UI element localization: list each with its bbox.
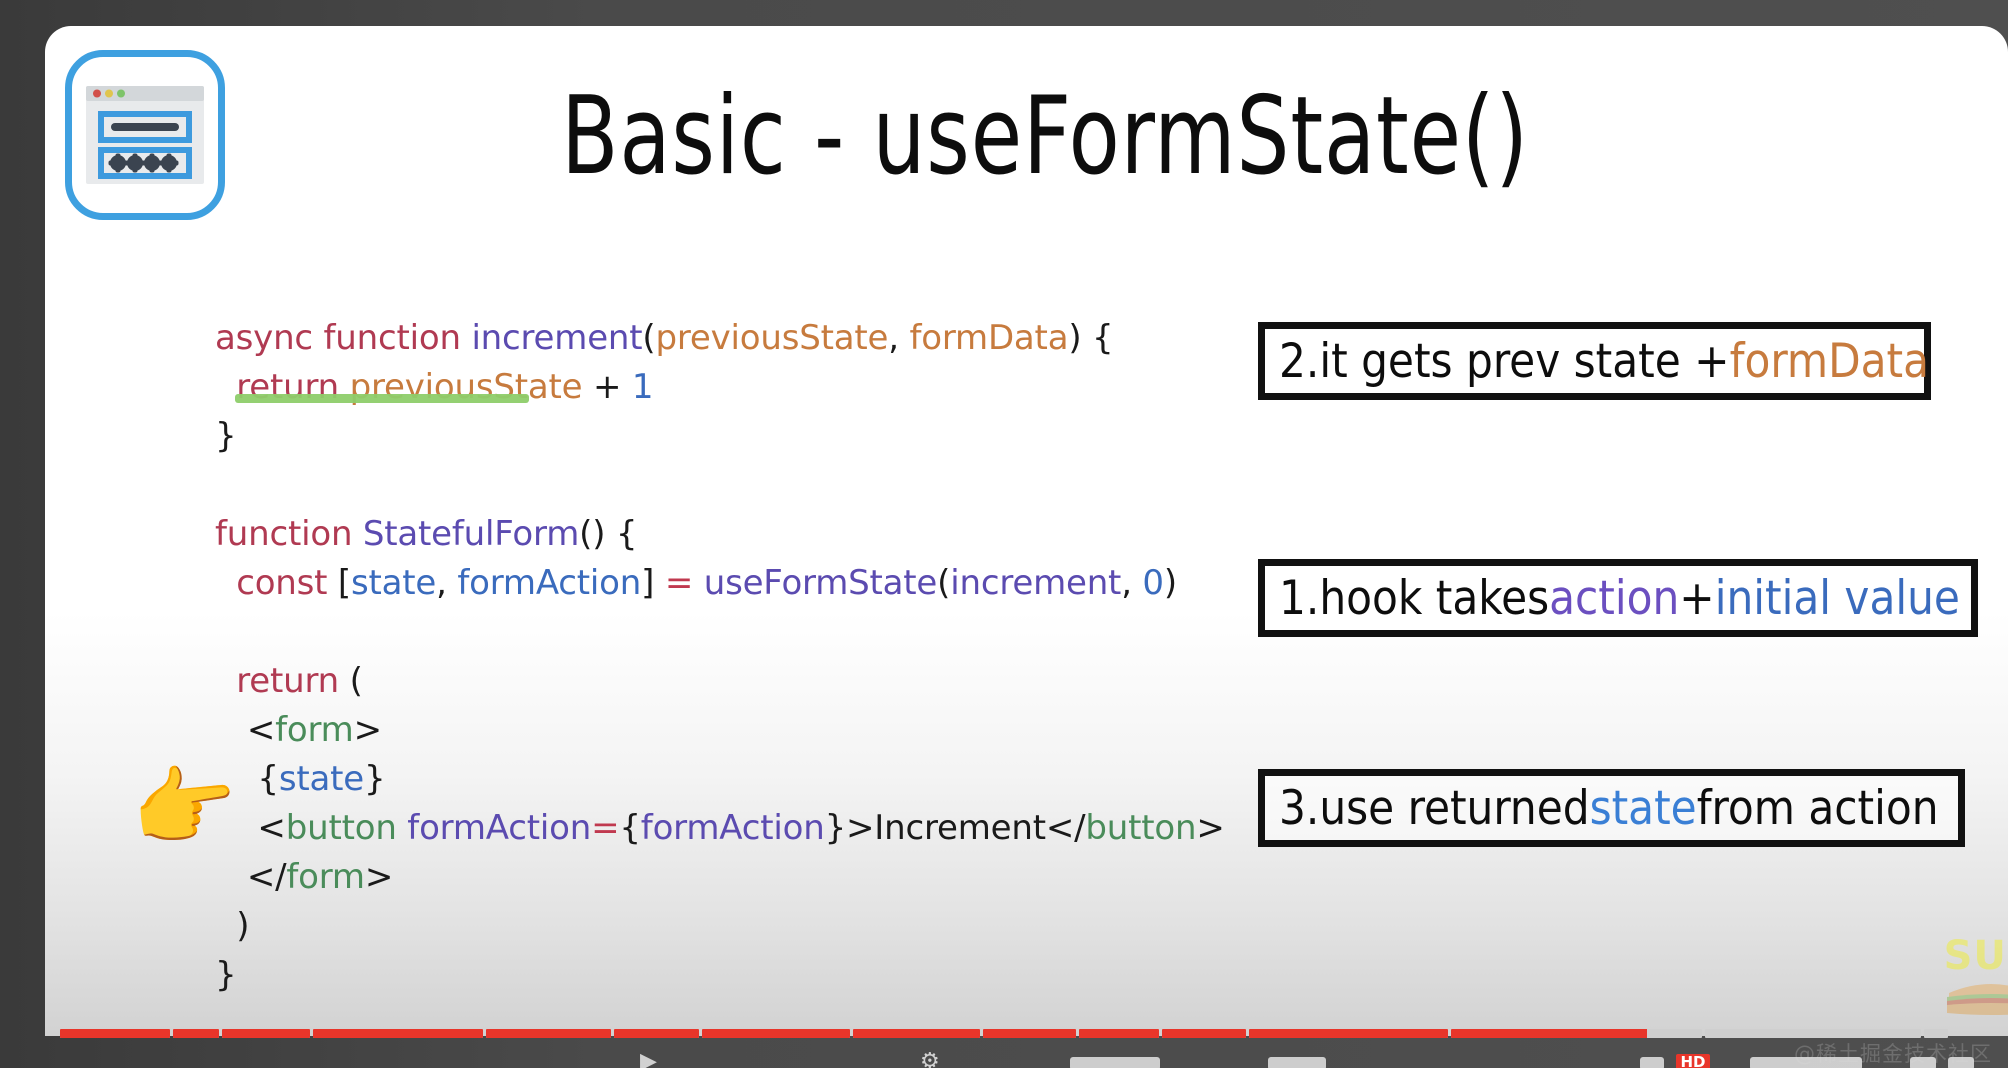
progress-chapter-segment[interactable]	[614, 1029, 699, 1038]
code-token: state	[279, 759, 364, 799]
code-token: ,	[888, 318, 909, 358]
code-token: increment	[471, 318, 642, 358]
progress-chapter-segment[interactable]	[173, 1029, 219, 1038]
fullscreen-button[interactable]	[1948, 1057, 1974, 1068]
progress-chapter-fill	[486, 1029, 611, 1038]
callout-text: state	[1590, 781, 1697, 836]
progress-chapter-segment[interactable]	[1249, 1029, 1448, 1038]
code-token: <	[215, 710, 275, 750]
login-form-icon	[65, 50, 225, 220]
pointing-hand-icon: 👉	[127, 759, 242, 856]
progress-chapter-segment[interactable]	[313, 1029, 483, 1038]
playback-options-button[interactable]	[1750, 1057, 1862, 1068]
subtitles-button[interactable]	[1070, 1057, 1160, 1068]
progress-chapter-fill	[702, 1029, 850, 1038]
code-line: )	[215, 902, 1225, 951]
code-line: function StatefulForm() {	[215, 510, 1225, 559]
sub-logo-watermark: SUB	[1943, 931, 2008, 1017]
code-line: {state}	[215, 755, 1225, 804]
progress-chapter-fill	[1451, 1029, 1647, 1038]
code-line: return previousState + 1	[215, 363, 1225, 412]
code-token: (	[937, 563, 950, 603]
code-token: button	[286, 808, 408, 848]
player-control-icons[interactable]: ▶ ⚙ HD	[0, 1054, 2008, 1068]
hd-quality-badge[interactable]: HD	[1676, 1054, 1710, 1068]
progress-chapter-segment[interactable]	[1451, 1029, 1702, 1038]
code-token: form	[286, 857, 364, 897]
code-token: {	[619, 808, 640, 848]
progress-chapter-segment[interactable]	[983, 1029, 1076, 1038]
presentation-slide: Basic - useFormState() async function in…	[45, 26, 2008, 1036]
code-token	[693, 563, 704, 603]
callout-text: use returned	[1319, 781, 1589, 836]
progress-chapter-segment[interactable]	[222, 1029, 310, 1038]
play-button[interactable]: ▶	[640, 1054, 657, 1068]
progress-chapter-segment[interactable]	[1079, 1029, 1159, 1038]
code-line: async function increment(previousState, …	[215, 314, 1225, 363]
code-token: formAction	[641, 808, 825, 848]
quality-selector-button[interactable]	[1268, 1057, 1326, 1068]
code-token: }>	[825, 808, 875, 848]
code-token: form	[275, 710, 353, 750]
progress-chapter-fill	[313, 1029, 483, 1038]
code-token	[621, 367, 632, 407]
code-token	[582, 367, 593, 407]
callout-box-1: 1. hook takes action + initial value	[1258, 559, 1978, 637]
progress-chapter-segment[interactable]	[1705, 1029, 1921, 1038]
callout-number: 2.	[1279, 334, 1319, 389]
progress-chapter-segment[interactable]	[486, 1029, 611, 1038]
callout-text: initial value	[1715, 571, 1960, 626]
code-token: return	[215, 661, 350, 701]
sub-logo-text: SUB	[1943, 933, 2008, 979]
progress-chapter-fill	[1249, 1029, 1448, 1038]
code-token: =	[591, 808, 619, 848]
code-token: state	[351, 563, 436, 603]
video-progress-bar[interactable]	[60, 1029, 1948, 1038]
callout-box-3: 3. use returned state from action	[1258, 769, 1965, 847]
code-block: async function increment(previousState, …	[215, 314, 1225, 1000]
code-token: function	[215, 514, 363, 554]
code-token: [	[338, 563, 351, 603]
video-player-controls-bar[interactable]: @稀土掘金技术社区 ▶ ⚙ HD	[0, 1016, 2008, 1068]
progress-chapter-fill	[1079, 1029, 1159, 1038]
code-token: }	[215, 955, 236, 995]
progress-chapter-fill	[60, 1029, 170, 1038]
callout-number: 3.	[1279, 781, 1319, 836]
callout-text: it gets prev state +	[1319, 334, 1729, 389]
code-token: formAction	[407, 808, 591, 848]
code-token: StatefulForm	[363, 514, 579, 554]
code-token: previousState	[655, 318, 888, 358]
callout-text: hook takes	[1319, 571, 1549, 626]
code-token: button	[1085, 808, 1196, 848]
code-line: }	[215, 412, 1225, 461]
progress-chapter-fill	[853, 1029, 980, 1038]
code-token: }	[215, 416, 236, 456]
code-token: (	[350, 661, 363, 701]
callout-text: from action	[1697, 781, 1939, 836]
code-line: }	[215, 951, 1225, 1000]
code-token: )	[215, 906, 249, 946]
code-token: useFormState	[704, 563, 937, 603]
progress-chapter-fill	[1162, 1029, 1246, 1038]
callout-number: 1.	[1279, 571, 1319, 626]
code-token: +	[593, 367, 621, 407]
code-token: ,	[436, 563, 457, 603]
progress-chapter-segment[interactable]	[702, 1029, 850, 1038]
callout-box-2: 2. it gets prev state + formData	[1258, 322, 1931, 400]
speed-selector-button[interactable]	[1640, 1057, 1664, 1068]
callout-text: action	[1549, 571, 1679, 626]
code-token: () {	[579, 514, 637, 554]
progress-chapter-segment[interactable]	[1924, 1029, 1948, 1038]
code-token: }	[364, 759, 385, 799]
code-token: )	[1164, 563, 1177, 603]
code-token: </	[215, 857, 286, 897]
video-player-frame: Basic - useFormState() async function in…	[0, 0, 2008, 1068]
progress-chapter-segment[interactable]	[1162, 1029, 1246, 1038]
code-token: Increment	[874, 808, 1046, 848]
theater-mode-button[interactable]	[1910, 1057, 1936, 1068]
code-token: formData	[909, 318, 1068, 358]
code-line: return (	[215, 657, 1225, 706]
progress-chapter-fill	[983, 1029, 1076, 1038]
code-token: formAction	[457, 563, 641, 603]
progress-chapter-fill	[222, 1029, 310, 1038]
code-token: >	[365, 857, 393, 897]
page-title: Basic - useFormState()	[409, 74, 1682, 199]
code-line: const [state, formAction] = useFormState…	[215, 559, 1225, 608]
callout-text: formData	[1730, 334, 1929, 389]
code-line	[215, 608, 1225, 657]
callout-text: +	[1679, 571, 1714, 626]
settings-gear-icon[interactable]: ⚙	[920, 1054, 940, 1068]
code-line: <form>	[215, 706, 1225, 755]
code-token: 0	[1142, 563, 1163, 603]
code-token: >	[1196, 808, 1224, 848]
code-token: (	[642, 318, 655, 358]
code-token: ,	[1121, 563, 1142, 603]
code-token: </	[1046, 808, 1086, 848]
progress-chapter-segment[interactable]	[853, 1029, 980, 1038]
green-highlight-underline	[235, 394, 529, 403]
code-token: async	[215, 318, 324, 358]
code-line: </form>	[215, 853, 1225, 902]
code-line: <button formAction={formAction}>Incremen…	[215, 804, 1225, 853]
code-token: >	[354, 710, 382, 750]
code-token: 1	[632, 367, 653, 407]
progress-chapter-fill	[173, 1029, 219, 1038]
code-token: increment	[950, 563, 1121, 603]
code-token: ]	[641, 563, 665, 603]
progress-chapter-segment[interactable]	[60, 1029, 170, 1038]
progress-chapter-fill	[614, 1029, 699, 1038]
code-token: function	[324, 318, 472, 358]
code-token: ) {	[1068, 318, 1113, 358]
code-line	[215, 461, 1225, 510]
code-token: const	[215, 563, 338, 603]
code-token: =	[665, 563, 693, 603]
